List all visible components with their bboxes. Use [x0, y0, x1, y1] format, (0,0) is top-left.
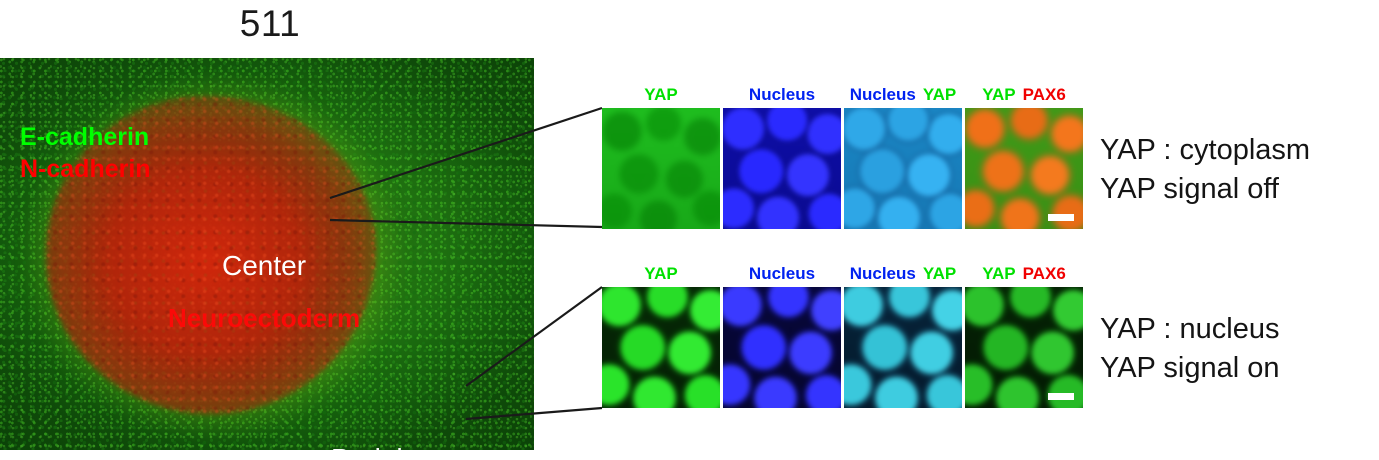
- figure-title: 511: [205, 2, 335, 46]
- caption-word-nucleus: Nucleus: [850, 264, 916, 283]
- caption-word-yap: YAP: [982, 264, 1015, 283]
- overview-label-neuroectoderm: Neuroectoderm: [168, 303, 360, 334]
- conclusion-periphery: YAP : nucleus YAP signal on: [1100, 310, 1280, 388]
- caption-word-yap: YAP: [923, 264, 956, 283]
- caption-word-pax6: PAX6: [1023, 264, 1066, 283]
- inset-panel-center-yap: [602, 108, 720, 229]
- cell-texture-yap: [602, 108, 720, 229]
- caption-word-nucleus: Nucleus: [749, 264, 815, 283]
- cell-texture-yap-pax6: [965, 287, 1083, 408]
- overview-label-e-cadherin: E-cadherin: [20, 123, 149, 152]
- inset-panel-row-periphery: [602, 287, 1083, 408]
- overview-micrograph: E-cadherin N-cadherin Neuroectoderm Surf…: [0, 58, 534, 450]
- figure-root: 511 E-cadherin N-cadherin Neuroectoderm …: [0, 0, 1379, 460]
- conclusion-center: YAP : cytoplasm YAP signal off: [1100, 131, 1310, 209]
- inset-panel-center-nucleus: [723, 108, 841, 229]
- caption-word-nucleus: Nucleus: [749, 85, 815, 104]
- conclusion-periphery-line-1: YAP : nucleus: [1100, 310, 1280, 349]
- inset-scale-bar-periphery: [1048, 393, 1074, 400]
- inset-panel-center-nucleus-yap: [844, 108, 962, 229]
- cell-texture-nucleus: [723, 287, 841, 408]
- inset-panel-periphery-yap: [602, 287, 720, 408]
- overview-label-periphery: Periphery: [331, 443, 451, 450]
- cell-texture-nucleus-yap: [844, 287, 962, 408]
- conclusion-periphery-line-2: YAP signal on: [1100, 349, 1280, 388]
- inset-scale-bar-center: [1048, 214, 1074, 221]
- inset-panel-periphery-yap-pax6: [965, 287, 1083, 408]
- inset-panel-row-center: [602, 108, 1083, 229]
- cell-texture-nucleus-yap: [844, 108, 962, 229]
- caption-word-yap: YAP: [982, 85, 1015, 104]
- conclusion-center-line-2: YAP signal off: [1100, 170, 1310, 209]
- overview-label-center: Center: [222, 250, 306, 282]
- overview-label-n-cadherin: N-cadherin: [20, 155, 151, 184]
- caption-word-yap: YAP: [923, 85, 956, 104]
- cell-texture-yap: [602, 287, 720, 408]
- caption-word-pax6: PAX6: [1023, 85, 1066, 104]
- cell-texture-yap-pax6: [965, 108, 1083, 229]
- conclusion-center-line-1: YAP : cytoplasm: [1100, 131, 1310, 170]
- inset-panel-periphery-nucleus-yap: [844, 287, 962, 408]
- cell-texture-nucleus: [723, 108, 841, 229]
- inset-panel-center-yap-pax6: [965, 108, 1083, 229]
- caption-word-yap: YAP: [644, 85, 677, 104]
- caption-word-yap: YAP: [644, 264, 677, 283]
- caption-word-nucleus: Nucleus: [850, 85, 916, 104]
- inset-panel-periphery-nucleus: [723, 287, 841, 408]
